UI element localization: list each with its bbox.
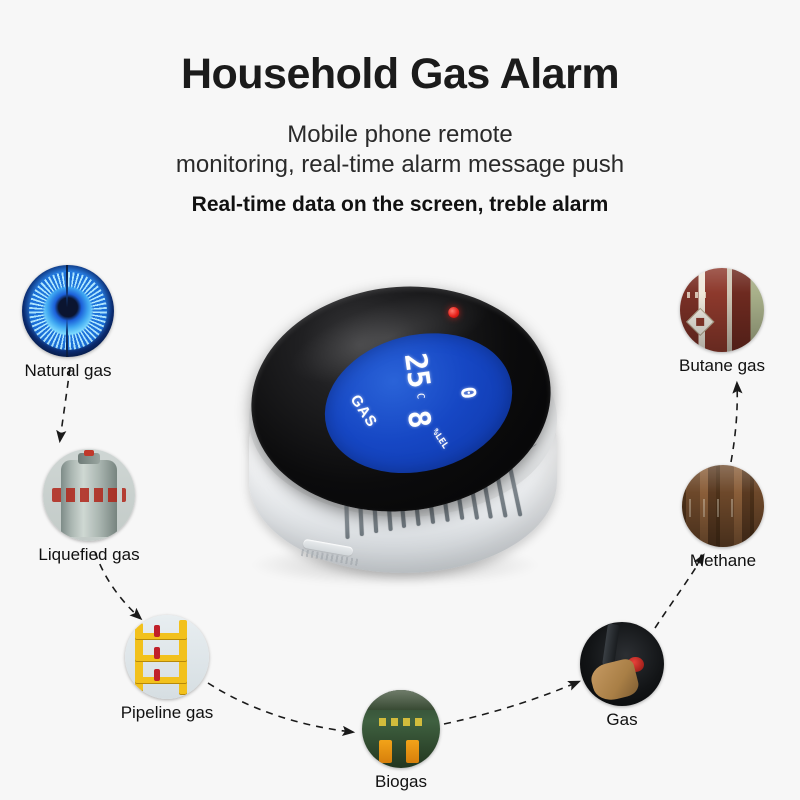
valve-2 — [154, 647, 160, 659]
page-subtitle: Mobile phone remote monitoring, real-tim… — [0, 120, 800, 180]
gas-type-label: Pipeline gas — [121, 703, 214, 723]
tank-top-band — [362, 690, 440, 710]
gas-type-liquefied-gas[interactable]: Liquefied gas — [43, 449, 135, 559]
biogas-thumbnail — [362, 690, 440, 768]
control-box-1 — [379, 740, 392, 763]
lcd-concentration-unit: %LEL — [429, 427, 449, 451]
gas-type-label: Butane gas — [679, 356, 765, 376]
gas-type-gas[interactable]: Gas — [580, 622, 664, 726]
flame-ring-icon — [29, 272, 106, 349]
gas-type-label: Biogas — [375, 772, 427, 792]
lcd-concentration-value: 8 — [400, 408, 437, 431]
gas-type-butane-gas[interactable]: Butane gas — [680, 268, 764, 372]
gas-type-biogas[interactable]: Biogas — [362, 690, 440, 790]
cylinder-shine — [682, 465, 764, 547]
gas-thumbnail — [580, 622, 664, 706]
lcd-temperature-value: 25 — [397, 351, 436, 390]
gas-alarm-device[interactable]: 25 C GAS 8 %LEL 0 — [231, 281, 576, 611]
page-subtitle-line-1: Mobile phone remote — [0, 120, 800, 150]
page-title: Household Gas Alarm — [0, 52, 800, 97]
pipe-horizontal-2 — [135, 655, 187, 661]
tank-chinese-text — [379, 718, 424, 726]
cylinder-chinese-text — [52, 488, 126, 503]
pipe-horizontal-3 — [135, 677, 187, 683]
valve-3 — [154, 669, 160, 681]
methane-thumbnail — [682, 465, 764, 547]
liquefied-gas-thumbnail — [43, 449, 135, 541]
cylinder-valve-knob — [84, 450, 93, 456]
arrow-biogas-to-gas — [444, 682, 578, 724]
gas-type-methane[interactable]: Methane — [682, 465, 764, 567]
gas-type-label: Liquefied gas — [38, 545, 139, 565]
lcd-gas-label: GAS — [347, 392, 381, 431]
pipe-horizontal-1 — [135, 633, 187, 639]
control-box-2 — [406, 740, 419, 763]
page-subtitle-line-2: monitoring, real-time alarm message push — [0, 150, 800, 180]
lcd-temperature-unit: C — [414, 392, 426, 400]
poster-canvas: Household Gas Alarm Mobile phone remote … — [0, 0, 800, 800]
valve-1 — [154, 625, 160, 637]
gas-type-label: Methane — [690, 551, 756, 571]
pipeline-gas-thumbnail — [125, 615, 209, 699]
gas-type-label: Natural gas — [25, 361, 112, 381]
cylinder-shine — [680, 268, 764, 352]
gas-type-label: Gas — [606, 710, 637, 730]
natural-gas-thumbnail — [22, 265, 114, 357]
lcd-secondary-value: 0 — [456, 385, 481, 400]
arrow-pipeline-to-biogas — [208, 683, 352, 732]
gas-type-natural-gas[interactable]: Natural gas — [22, 265, 114, 375]
arrow-methane-to-butane — [731, 384, 737, 462]
vent-slot — [344, 505, 349, 539]
gas-type-pipeline-gas[interactable]: Pipeline gas — [125, 615, 209, 719]
page-tagline: Real-time data on the screen, treble ala… — [0, 193, 800, 217]
butane-gas-thumbnail — [680, 268, 764, 352]
work-glove-icon — [588, 657, 641, 704]
